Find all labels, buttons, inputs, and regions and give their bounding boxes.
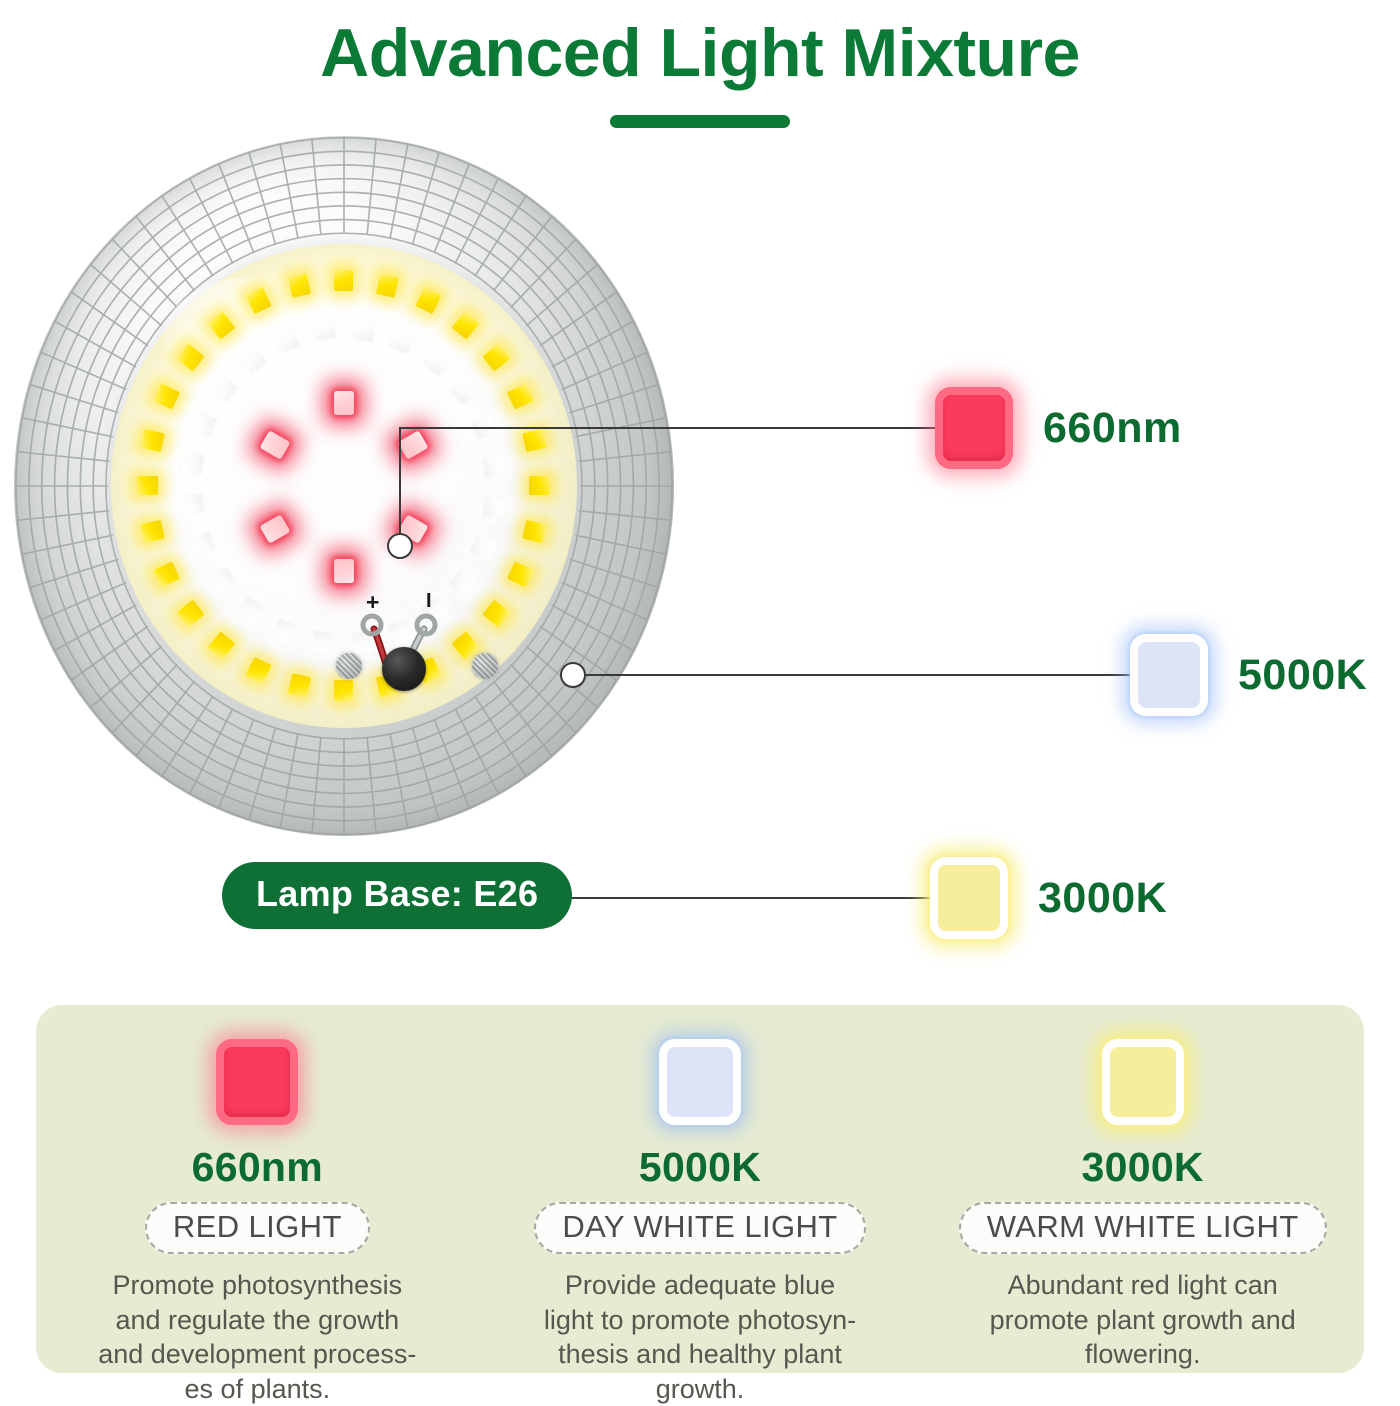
callout-label-5000k: 5000K bbox=[1238, 651, 1367, 700]
led-3000k bbox=[140, 428, 165, 451]
panel-badge-red-light: RED LIGHT bbox=[145, 1202, 370, 1254]
led-3000k bbox=[137, 476, 158, 495]
panel-badge-warm-white-light: WARM WHITE LIGHT bbox=[959, 1202, 1327, 1254]
terminal-base bbox=[382, 647, 426, 691]
terminal-screw-right bbox=[472, 653, 498, 679]
page-title: Advanced Light Mixture bbox=[0, 14, 1400, 92]
led-5000k bbox=[354, 317, 376, 340]
callout-anchor-5000k bbox=[560, 662, 586, 688]
callout-3000k: 3000K bbox=[930, 857, 1167, 939]
red-led-chip-icon bbox=[935, 387, 1013, 469]
header: Advanced Light Mixture bbox=[0, 0, 1400, 128]
callout-anchor-660nm bbox=[387, 533, 413, 559]
light-type-column-warm-white: 3000K WARM WHITE LIGHT Abundant red ligh… bbox=[921, 1005, 1364, 1373]
led-3000k bbox=[529, 476, 550, 495]
led-5000k bbox=[311, 630, 333, 653]
callout-label-660nm: 660nm bbox=[1043, 404, 1182, 453]
panel-title-3000k: 3000K bbox=[1082, 1147, 1204, 1188]
yellow-led-chip-icon bbox=[930, 857, 1008, 939]
light-types-panel: 660nm RED LIGHT Promote photosynthesis a… bbox=[36, 1005, 1364, 1373]
panel-chip-blue-wrap bbox=[659, 1039, 741, 1125]
panel-title-660nm: 660nm bbox=[192, 1147, 323, 1188]
callout-label-3000k: 3000K bbox=[1038, 874, 1167, 923]
light-type-column-day-white: 5000K DAY WHITE LIGHT Provide adequate b… bbox=[479, 1005, 922, 1373]
led-5000k bbox=[181, 494, 204, 515]
grow-light-bulb-illustration: + I bbox=[14, 136, 674, 836]
polarity-positive-mark: + bbox=[366, 591, 379, 614]
panel-badge-day-white-light: DAY WHITE LIGHT bbox=[534, 1202, 865, 1254]
light-type-column-red: 660nm RED LIGHT Promote photosynthesis a… bbox=[36, 1005, 479, 1373]
polarity-negative-mark: I bbox=[426, 591, 432, 611]
led-5000k bbox=[314, 317, 335, 340]
panel-chip-red-wrap bbox=[216, 1039, 298, 1125]
red-led-chip-icon bbox=[216, 1039, 298, 1125]
led-3000k bbox=[334, 270, 353, 291]
panel-description-red: Promote photosynthesis and regulate the … bbox=[98, 1268, 416, 1406]
title-underline-bar bbox=[610, 115, 790, 128]
wire-terminal: + I bbox=[344, 591, 464, 701]
led-660nm bbox=[334, 391, 354, 415]
lamp-base-badge: Lamp Base: E26 bbox=[222, 862, 572, 929]
panel-description-day-white: Provide adequate blue light to promote p… bbox=[544, 1268, 856, 1406]
lamp-diagram: + I 660nm 5000K 3000K Lamp Base: E26 bbox=[0, 128, 1400, 918]
led-660nm bbox=[334, 559, 354, 583]
led-5000k bbox=[482, 497, 505, 519]
panel-title-5000k: 5000K bbox=[639, 1147, 761, 1188]
callout-660nm: 660nm bbox=[935, 387, 1182, 469]
yellow-led-chip-icon bbox=[1102, 1039, 1184, 1125]
led-3000k bbox=[522, 428, 547, 451]
led-3000k bbox=[522, 520, 547, 543]
panel-chip-yellow-wrap bbox=[1102, 1039, 1184, 1125]
led-5000k bbox=[483, 456, 506, 477]
led-5000k bbox=[181, 453, 204, 475]
blue-led-chip-icon bbox=[659, 1039, 741, 1125]
blue-led-chip-icon bbox=[1130, 634, 1208, 716]
panel-description-warm-white: Abundant red light can promote plant gro… bbox=[990, 1268, 1296, 1372]
terminal-screw-left bbox=[336, 653, 362, 679]
callout-5000k: 5000K bbox=[1130, 634, 1367, 716]
